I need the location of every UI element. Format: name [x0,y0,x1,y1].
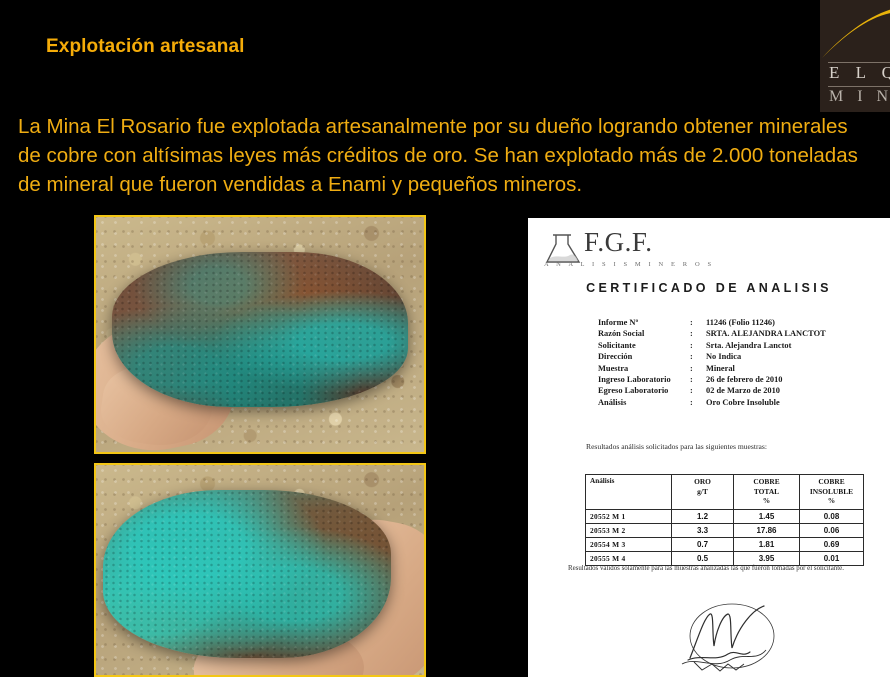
lab-subtitle: A N A L I S I S M I N E R O S [544,261,714,268]
copper-ore-specimen [112,252,407,407]
cell-oro: 3.3 [672,524,734,538]
table-row: 20552 M 1 1.2 1.45 0.08 [586,510,864,524]
logo-divider-bottom [828,86,890,87]
field-label: Análisis [598,397,690,408]
table-header-row: Análisis ORO g/T COBRE TOTAL % COBRE INS… [586,475,864,510]
ore-sample-photo-top [94,215,426,454]
field-colon: : [690,397,706,408]
cell-cobre-insoluble: 0.06 [800,524,864,538]
certificate-field-row: Razón Social : SRTA. ALEJANDRA LANCTOT [598,328,888,339]
cell-cobre-insoluble: 0.01 [800,552,864,566]
field-value: 11246 (Folio 11246) [706,317,775,328]
field-label: Egreso Laboratorio [598,385,690,396]
cell-cobre-total: 17.86 [734,524,800,538]
body-line-1: La Mina El Rosario fue explotada artesan… [18,112,890,141]
certificate-field-row: Egreso Laboratorio : 02 de Marzo de 2010 [598,385,888,396]
certificate-field-row: Muestra : Mineral [598,363,888,374]
certificate-heading: CERTIFICADO DE ANALISIS [528,281,890,295]
field-value: 26 de febrero de 2010 [706,374,782,385]
field-value: Oro Cobre Insoluble [706,397,780,408]
cell-cobre-total: 1.81 [734,538,800,552]
cell-oro: 0.7 [672,538,734,552]
cell-analisis: 20554 M 3 [586,538,672,552]
field-value: Mineral [706,363,735,374]
results-intro-text: Resultados análisis solicitados para las… [586,442,767,451]
field-label: Dirección [598,351,690,362]
body-line-3: de mineral que fueron vendidas a Enami y… [18,170,890,199]
field-colon: : [690,317,706,328]
field-value: No Indica [706,351,741,362]
certificate-fields-list: Informe Nº : 11246 (Folio 11246) Razón S… [598,317,888,408]
certificate-field-row: Informe Nº : 11246 (Folio 11246) [598,317,888,328]
table-row: 20553 M 2 3.3 17.86 0.06 [586,524,864,538]
certificate-field-row: Solicitante : Srta. Alejandra Lanctot [598,340,888,351]
cell-oro: 0.5 [672,552,734,566]
swoosh-icon [820,4,890,62]
logo-line-2: M I N E [829,88,890,106]
certificate-footnote: Resultados válidos solamente para las mu… [568,565,844,572]
table-row: 20554 M 3 0.7 1.81 0.69 [586,538,864,552]
field-colon: : [690,351,706,362]
field-value: Srta. Alejandra Lanctot [706,340,791,351]
cell-oro: 1.2 [672,510,734,524]
field-label: Solicitante [598,340,690,351]
field-colon: : [690,374,706,385]
signature-icon [668,598,798,676]
column-header-analisis: Análisis [586,475,672,510]
field-label: Muestra [598,363,690,374]
analysis-results-table: Análisis ORO g/T COBRE TOTAL % COBRE INS… [585,474,864,566]
field-colon: : [690,385,706,396]
cell-analisis: 20552 M 1 [586,510,672,524]
analysis-certificate-document: F.G.F. A N A L I S I S M I N E R O S CER… [528,218,890,677]
cell-cobre-insoluble: 0.69 [800,538,864,552]
logo-line-1: E L Q [829,63,890,83]
cell-cobre-total: 1.45 [734,510,800,524]
column-header-cobre-insoluble: COBRE INSOLUBLE % [800,475,864,510]
field-value: SRTA. ALEJANDRA LANCTOT [706,328,826,339]
page-title: Explotación artesanal [46,36,245,58]
lab-name: F.G.F. [584,227,652,258]
field-colon: : [690,340,706,351]
cell-cobre-insoluble: 0.08 [800,510,864,524]
column-header-cobre-total: COBRE TOTAL % [734,475,800,510]
certificate-field-row: Análisis : Oro Cobre Insoluble [598,397,888,408]
body-paragraph: La Mina El Rosario fue explotada artesan… [18,112,890,199]
certificate-field-row: Dirección : No Indica [598,351,888,362]
field-label: Informe Nº [598,317,690,328]
column-header-oro: ORO g/T [672,475,734,510]
cell-cobre-total: 3.95 [734,552,800,566]
brand-logo: E L Q M I N E [820,0,890,112]
cell-analisis: 20553 M 2 [586,524,672,538]
lab-logo: F.G.F. A N A L I S I S M I N E R O S [540,230,710,272]
field-label: Razón Social [598,328,690,339]
field-colon: : [690,328,706,339]
ore-surface-texture [103,490,392,658]
field-value: 02 de Marzo de 2010 [706,385,780,396]
field-colon: : [690,363,706,374]
body-line-2: de cobre con altísimas leyes más crédito… [18,141,890,170]
ore-surface-texture [112,252,407,407]
copper-ore-specimen [103,490,392,658]
ore-sample-photo-bottom [94,463,426,677]
certificate-field-row: Ingreso Laboratorio : 26 de febrero de 2… [598,374,888,385]
field-label: Ingreso Laboratorio [598,374,690,385]
cell-analisis: 20555 M 4 [586,552,672,566]
table-row: 20555 M 4 0.5 3.95 0.01 [586,552,864,566]
